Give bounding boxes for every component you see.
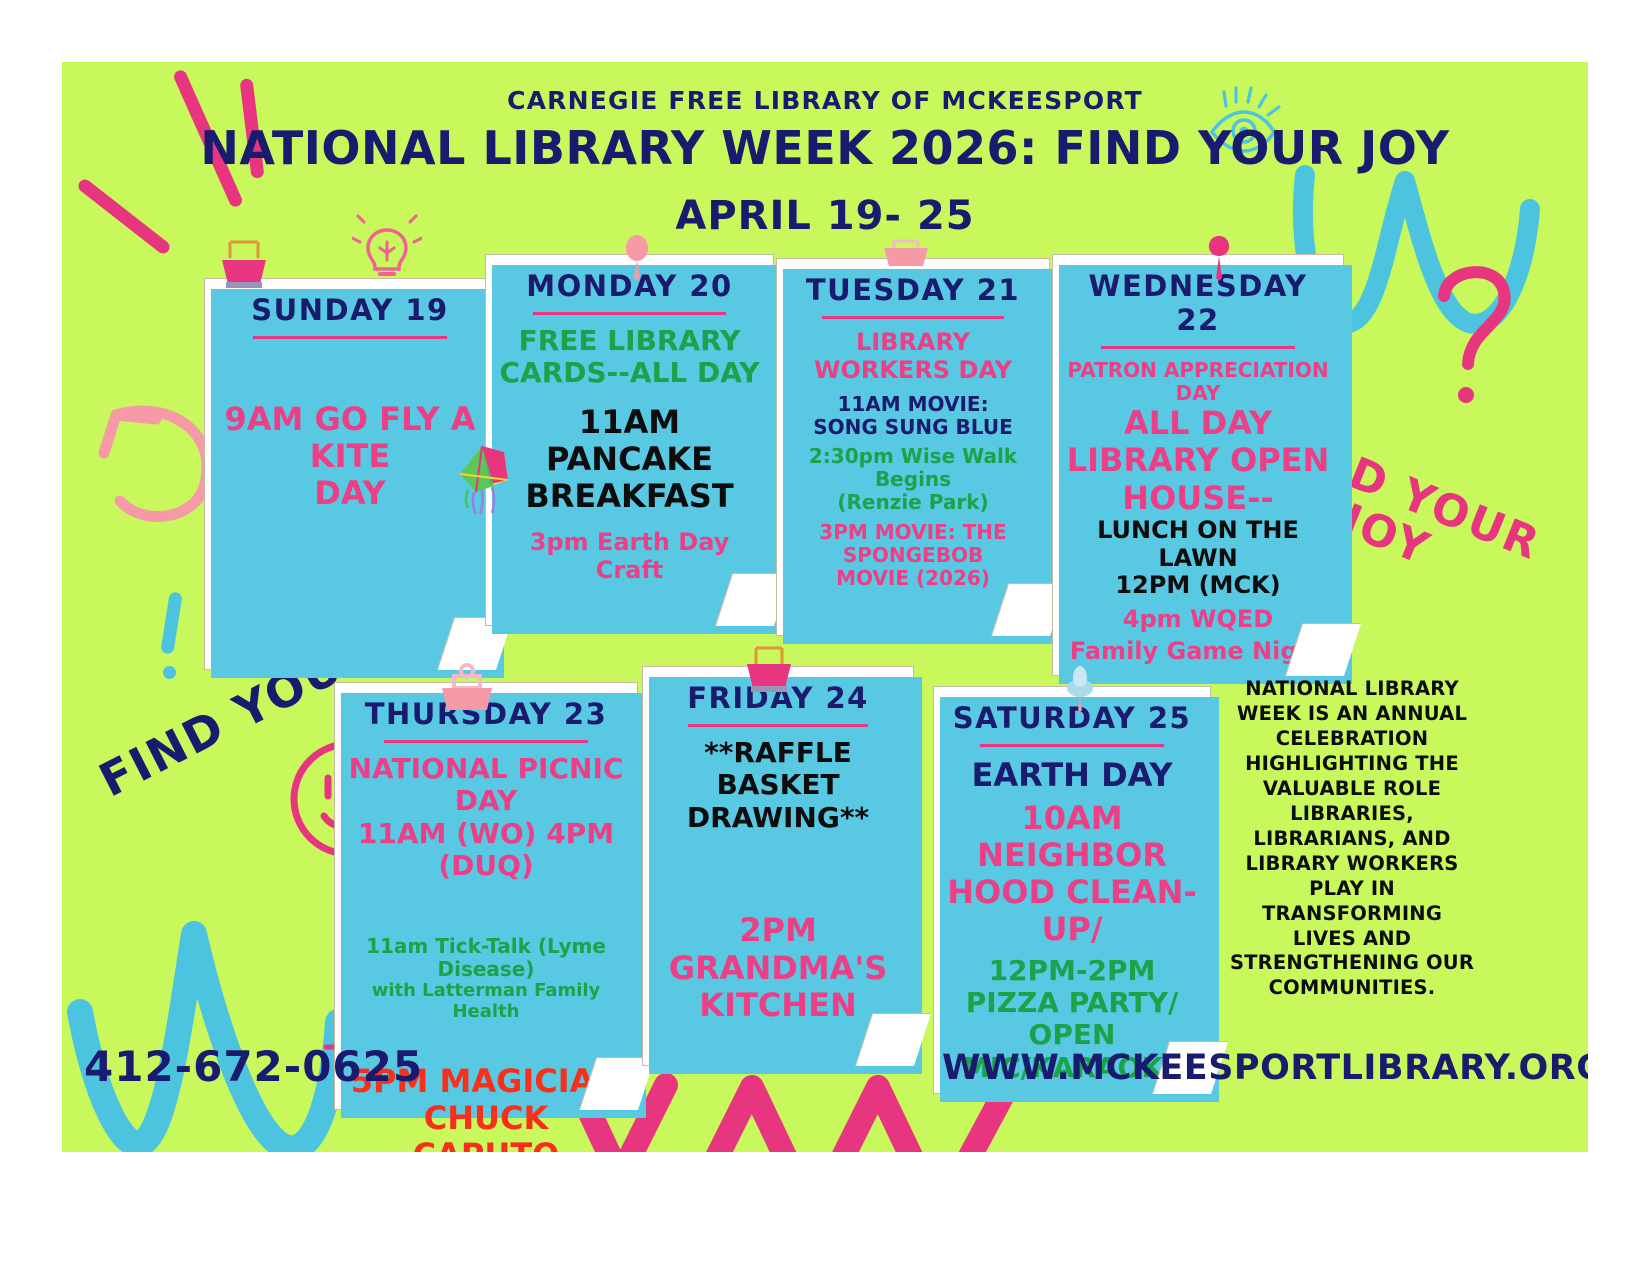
divider — [688, 724, 868, 727]
event-line: EARTH DAY — [944, 757, 1200, 794]
event-line: BREAKFAST — [496, 478, 763, 515]
event-line: SPONGEBOB — [787, 544, 1039, 567]
event-line: 2PM GRANDMA'S — [653, 912, 903, 986]
library-name: CARNEGIE FREE LIBRARY OF MCKEESPORT — [62, 86, 1588, 115]
day-card-wednesday-title: WEDNESDAY 22 — [1063, 269, 1333, 337]
pink-question-mark-icon — [1420, 252, 1530, 422]
website-url[interactable]: WWW.MCKEESPORTLIBRARY.ORG — [942, 1048, 1588, 1088]
day-card-sunday[interactable]: SUNDAY 19 9AM GO FLY A KITE DAY — [204, 278, 496, 670]
event-line: CARDS--ALL DAY — [496, 357, 763, 389]
event-line: 11AM MOVIE: — [787, 393, 1039, 416]
day-card-monday[interactable]: MONDAY 20 FREE LIBRARY CARDS--ALL DAY 11… — [485, 254, 774, 626]
divider — [253, 336, 447, 339]
divider — [533, 312, 725, 315]
event-line: 9AM GO FLY A KITE — [215, 401, 485, 475]
event-line: 3PM MOVIE: THE — [787, 521, 1039, 544]
day-card-wednesday[interactable]: WEDNESDAY 22 PATRON APPRECIATION DAY ALL… — [1052, 254, 1344, 676]
event-line: SONG SUNG BLUE — [787, 416, 1039, 439]
day-card-sunday-title: SUNDAY 19 — [215, 293, 485, 327]
event-line: 11AM (WO) 4PM (DUQ) — [345, 818, 627, 883]
event-line: 11am Tick-Talk (Lyme Disease) — [345, 935, 627, 981]
day-card-friday[interactable]: FRIDAY 24 **RAFFLE BASKET DRAWING** 2PM … — [642, 666, 914, 1066]
event-line: 11AM PANCAKE — [496, 404, 763, 478]
event-line: 10AM NEIGHBOR — [944, 800, 1200, 874]
day-card-tuesday-title: TUESDAY 21 — [787, 273, 1039, 307]
event-line: with Latterman Family Health — [345, 981, 627, 1023]
event-line: PIZZA PARTY/ — [944, 987, 1200, 1019]
day-card-monday-title: MONDAY 20 — [496, 269, 763, 303]
event-line: MOVIE (2026) — [787, 567, 1039, 590]
about-blurb: NATIONAL LIBRARY WEEK IS AN ANNUAL CELEB… — [1227, 677, 1477, 1001]
event-line: 12PM-2PM — [944, 955, 1200, 987]
day-card-saturday[interactable]: SATURDAY 25 EARTH DAY 10AM NEIGHBOR HOOD… — [933, 686, 1211, 1094]
poster-header: CARNEGIE FREE LIBRARY OF MCKEESPORT NATI… — [62, 86, 1588, 239]
day-card-tuesday[interactable]: TUESDAY 21 LIBRARY WORKERS DAY 11AM MOVI… — [776, 258, 1050, 636]
divider — [384, 740, 587, 743]
event-line: **RAFFLE BASKET — [653, 737, 903, 802]
event-line: DAY — [215, 475, 485, 512]
event-line: 12PM (MCK) — [1063, 572, 1333, 600]
event-line: HOOD CLEAN-UP/ — [944, 874, 1200, 948]
divider — [980, 744, 1164, 747]
day-card-thursday-title: THURSDAY 23 — [345, 697, 627, 731]
poster-canvas: FIND YOUR JOY FIND YOUR JOY CARNEGIE FRE… — [62, 62, 1588, 1152]
page-title: NATIONAL LIBRARY WEEK 2026: FIND YOUR JO… — [62, 121, 1588, 175]
event-line: 3pm Earth Day Craft — [496, 529, 763, 585]
event-line: 2:30pm Wise Walk Begins — [787, 445, 1039, 491]
phone-number[interactable]: 412-672-0625 — [84, 1042, 423, 1091]
event-line: (Renzie Park) — [787, 491, 1039, 514]
date-range: APRIL 19- 25 — [62, 193, 1588, 239]
event-line: NATIONAL PICNIC DAY — [345, 753, 627, 818]
divider — [1101, 346, 1295, 349]
event-line: LUNCH ON THE LAWN — [1063, 517, 1333, 573]
event-line: LIBRARY OPEN — [1063, 442, 1333, 479]
event-line: KITCHEN — [653, 987, 903, 1024]
event-line: LIBRARY WORKERS DAY — [787, 329, 1039, 385]
divider — [822, 316, 1003, 319]
day-card-saturday-title: SATURDAY 25 — [944, 701, 1200, 735]
event-line: 4pm WQED — [1063, 606, 1333, 634]
cyan-exclamation-icon — [157, 592, 197, 702]
event-line: DRAWING** — [653, 802, 903, 834]
event-line: HOUSE-- — [1063, 480, 1333, 517]
event-line: FREE LIBRARY — [496, 325, 763, 357]
event-line: PATRON APPRECIATION DAY — [1063, 359, 1333, 405]
day-card-friday-title: FRIDAY 24 — [653, 681, 903, 715]
event-line: ALL DAY — [1063, 405, 1333, 442]
